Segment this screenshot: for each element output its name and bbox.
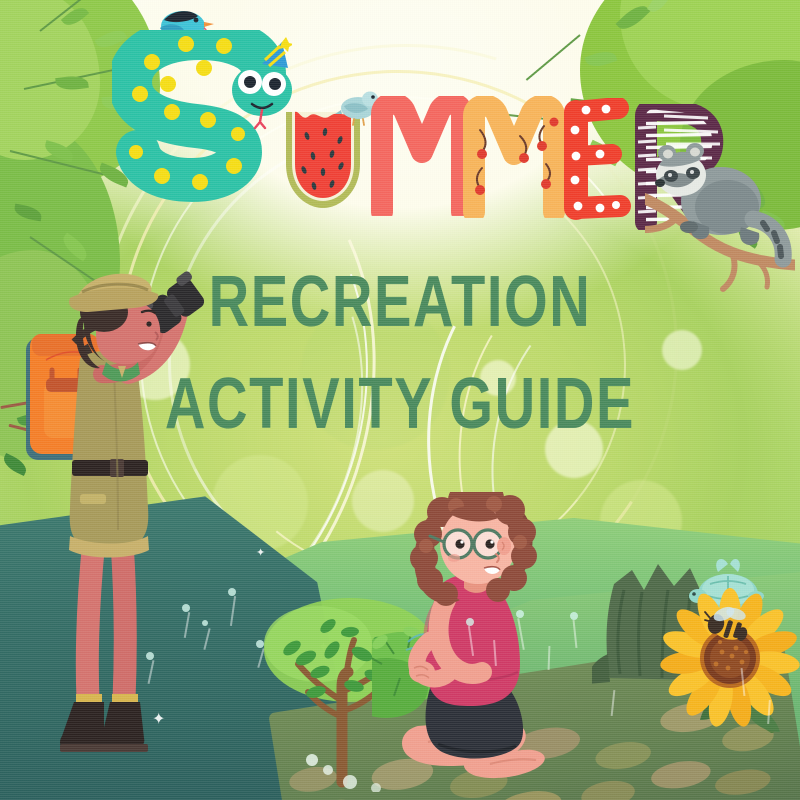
poster-canvas: ✦ ✦ ✦ ✦ ✦: [0, 0, 800, 800]
raccoon-illustration: [655, 135, 795, 295]
letter-m-cherries: [458, 96, 570, 218]
sunflower-illustration: [660, 586, 800, 751]
hiker-character: [22, 250, 222, 770]
letter-e-polkadot: [556, 98, 640, 222]
kneeling-girl-character: [372, 492, 602, 800]
letter-s-snake: [112, 30, 292, 220]
